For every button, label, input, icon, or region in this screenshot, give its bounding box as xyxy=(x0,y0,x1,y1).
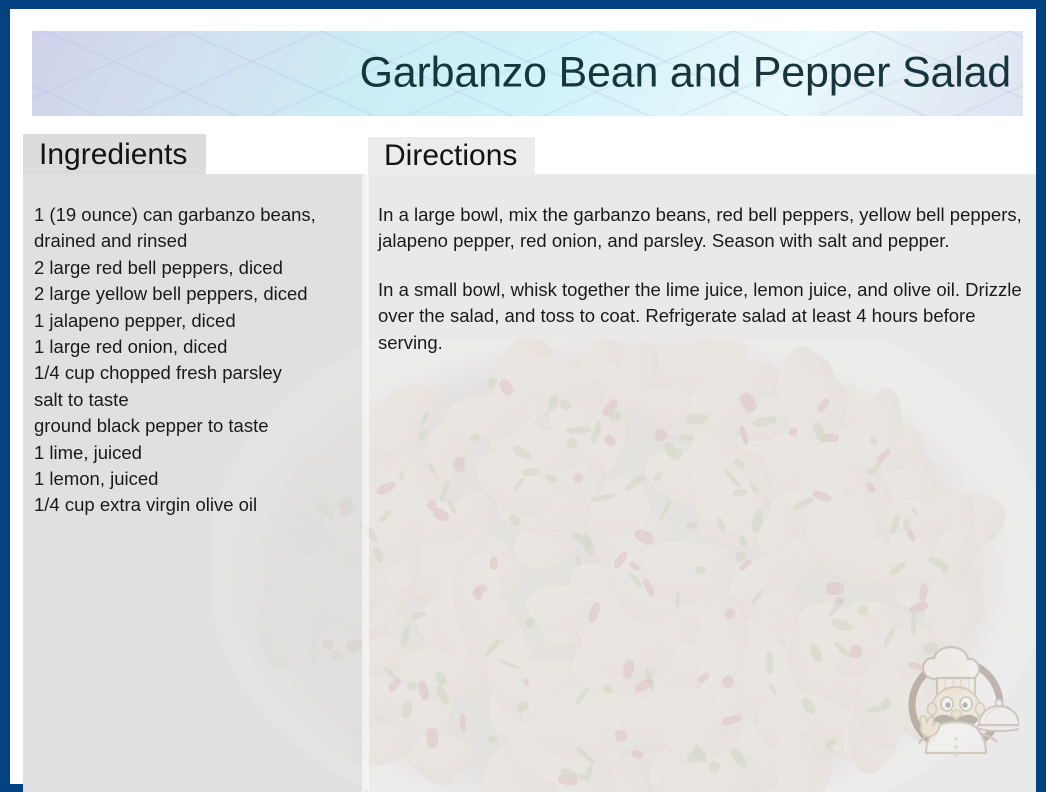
direction-paragraph: In a large bowl, mix the garbanzo beans,… xyxy=(378,202,1023,255)
card-page: Garbanzo Bean and Pepper Salad Ingredien… xyxy=(10,9,1036,784)
ingredient-item: 1 lime, juiced xyxy=(34,440,364,466)
recipe-card: Garbanzo Bean and Pepper Salad Ingredien… xyxy=(0,0,1046,792)
ingredient-item: 1/4 cup chopped fresh parsley xyxy=(34,360,364,386)
ingredient-item: 1 (19 ounce) can garbanzo beans, drained… xyxy=(34,202,364,255)
title-banner: Garbanzo Bean and Pepper Salad xyxy=(32,31,1023,116)
direction-paragraph: In a small bowl, whisk together the lime… xyxy=(378,277,1023,356)
directions-text: In a large bowl, mix the garbanzo beans,… xyxy=(378,202,1023,356)
chef-mascot-logo xyxy=(893,635,1019,761)
ingredient-item: 2 large red bell peppers, diced xyxy=(34,255,364,281)
ingredients-heading-tab: Ingredients xyxy=(23,134,206,175)
ingredient-item: 1 jalapeno pepper, diced xyxy=(34,308,364,334)
ingredient-item: 2 large yellow bell peppers, diced xyxy=(34,281,364,307)
directions-heading: Directions xyxy=(384,141,517,171)
ingredient-item: salt to taste xyxy=(34,387,364,413)
ingredient-item: 1 large red onion, diced xyxy=(34,334,364,360)
ingredient-item: ground black pepper to taste xyxy=(34,413,364,439)
ingredient-item: 1 lemon, juiced xyxy=(34,466,364,492)
page-title: Garbanzo Bean and Pepper Salad xyxy=(360,51,1011,94)
directions-heading-tab: Directions xyxy=(368,137,535,175)
ingredients-list: 1 (19 ounce) can garbanzo beans, drained… xyxy=(34,202,364,519)
ingredient-item: 1/4 cup extra virgin olive oil xyxy=(34,492,364,518)
ingredients-heading: Ingredients xyxy=(39,140,187,170)
